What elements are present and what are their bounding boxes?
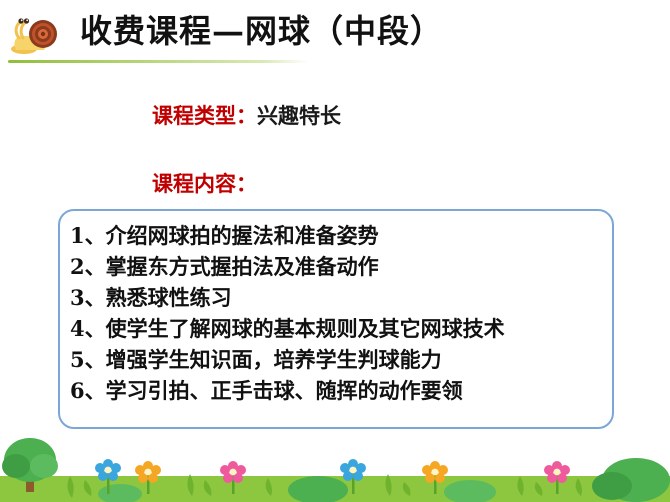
- flower-icon-5: [422, 461, 448, 494]
- tree-icon-left: [2, 438, 58, 492]
- bush-icon-center: [288, 476, 348, 502]
- bush-icon-mid-left: [98, 484, 142, 502]
- list-item: 4、使学生了解网球的基本规则及其它网球技术: [70, 313, 610, 344]
- course-content-list: 1、介绍网球拍的握法和准备姿势 2、掌握东方式握拍法及准备动作 3、熟悉球性练习…: [70, 220, 610, 406]
- bush-icon-mid-right: [444, 480, 496, 502]
- list-item: 1、介绍网球拍的握法和准备姿势: [70, 220, 610, 251]
- header-divider: [8, 60, 308, 63]
- slide-canvas: 收费课程—网球（中段） 课程类型：兴趣特长 课程内容： 1、介绍网球拍的握法和准…: [0, 0, 670, 502]
- bush-icon-right: [592, 458, 670, 502]
- course-type-value: 兴趣特长: [257, 103, 341, 128]
- flower-icon-6: [544, 461, 570, 494]
- flower-icon-3: [220, 461, 246, 494]
- course-type-label: 课程类型：: [152, 103, 257, 128]
- list-item: 5、增强学生知识面，培养学生判球能力: [70, 344, 610, 375]
- page-title: 收费课程—网球（中段）: [80, 6, 443, 52]
- slide-header: 收费课程—网球（中段）: [0, 0, 670, 66]
- list-item: 2、掌握东方式握拍法及准备动作: [70, 251, 610, 282]
- snail-icon: [10, 12, 66, 56]
- list-item: 6、学习引拍、正手击球、随挥的动作要领: [70, 375, 610, 406]
- decorative-footer: [0, 424, 670, 502]
- list-item: 3、熟悉球性练习: [70, 282, 610, 313]
- course-content-label: 课程内容：: [152, 168, 257, 198]
- footer-illustration: [0, 424, 670, 502]
- course-type-line: 课程类型：兴趣特长: [152, 100, 341, 130]
